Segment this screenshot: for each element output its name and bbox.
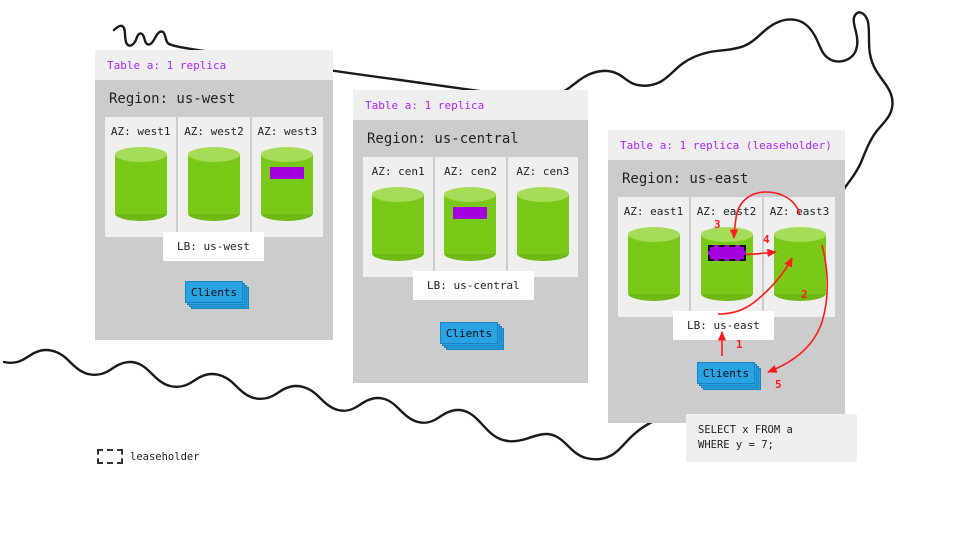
az-label-west2: AZ: west2 bbox=[184, 125, 244, 138]
cylinder-top bbox=[188, 147, 240, 162]
az-label-cen1: AZ: cen1 bbox=[372, 165, 425, 178]
clients-stack-us-east[interactable]: Clients bbox=[697, 362, 757, 386]
cylinder-body bbox=[372, 194, 424, 254]
cylinder-top bbox=[372, 187, 424, 202]
step-number-4: 4 bbox=[763, 233, 770, 246]
cylinder-top bbox=[628, 227, 680, 242]
az-row-us-west: AZ: west1 AZ: west2 AZ: west3 bbox=[105, 117, 323, 237]
node-cylinder-east1[interactable] bbox=[628, 227, 680, 301]
step-number-2: 2 bbox=[801, 288, 808, 301]
cylinder-body bbox=[115, 154, 167, 214]
cylinder-top bbox=[517, 187, 569, 202]
node-cylinder-west3[interactable] bbox=[261, 147, 313, 221]
az-row-us-central: AZ: cen1 AZ: cen2 AZ: cen3 bbox=[363, 157, 578, 277]
az-cell-west3[interactable]: AZ: west3 bbox=[252, 117, 323, 237]
leaseholder-replica-marker-east2 bbox=[708, 245, 746, 261]
az-cell-east2[interactable]: AZ: east2 bbox=[691, 197, 762, 317]
panel-title-us-east: Table a: 1 replica (leaseholder) bbox=[608, 130, 845, 160]
node-cylinder-cen2[interactable] bbox=[444, 187, 496, 261]
leaseholder-swatch-icon bbox=[97, 449, 123, 464]
replica-marker-cen2 bbox=[453, 207, 487, 219]
panel-title-us-central: Table a: 1 replica bbox=[353, 90, 588, 120]
cylinder-body bbox=[774, 234, 826, 294]
az-label-cen3: AZ: cen3 bbox=[516, 165, 569, 178]
cylinder-body bbox=[444, 194, 496, 254]
panel-title-us-west: Table a: 1 replica bbox=[95, 50, 333, 80]
clients-label-us-central[interactable]: Clients bbox=[440, 322, 498, 344]
lb-box-us-central[interactable]: LB: us-central bbox=[413, 271, 534, 300]
cylinder-top bbox=[774, 227, 826, 242]
node-cylinder-east3[interactable] bbox=[774, 227, 826, 301]
az-label-east3: AZ: east3 bbox=[770, 205, 830, 218]
cylinder-body bbox=[701, 234, 753, 294]
node-cylinder-cen1[interactable] bbox=[372, 187, 424, 261]
az-cell-east1[interactable]: AZ: east1 bbox=[618, 197, 689, 317]
replica-marker-west3 bbox=[270, 167, 304, 179]
cylinder-body bbox=[188, 154, 240, 214]
region-label-us-east: Region: us-east bbox=[618, 160, 835, 197]
lb-box-us-west[interactable]: LB: us-west bbox=[163, 232, 264, 261]
region-label-us-west: Region: us-west bbox=[105, 80, 323, 117]
cylinder-body bbox=[517, 194, 569, 254]
step-number-3: 3 bbox=[714, 218, 721, 231]
cylinder-body bbox=[261, 154, 313, 214]
az-cell-west2[interactable]: AZ: west2 bbox=[178, 117, 249, 237]
lb-box-us-east[interactable]: LB: us-east bbox=[673, 311, 774, 340]
step-number-1: 1 bbox=[736, 338, 743, 351]
az-label-east1: AZ: east1 bbox=[624, 205, 684, 218]
node-cylinder-cen3[interactable] bbox=[517, 187, 569, 261]
legend-leaseholder: leaseholder bbox=[97, 449, 200, 464]
az-cell-east3[interactable]: AZ: east3 bbox=[764, 197, 835, 317]
cylinder-top bbox=[701, 227, 753, 242]
cylinder-body bbox=[628, 234, 680, 294]
node-cylinder-east2[interactable] bbox=[701, 227, 753, 301]
clients-label-us-west[interactable]: Clients bbox=[185, 281, 243, 303]
az-cell-cen1[interactable]: AZ: cen1 bbox=[363, 157, 433, 277]
region-label-us-central: Region: us-central bbox=[363, 120, 578, 157]
cylinder-top bbox=[115, 147, 167, 162]
az-label-west3: AZ: west3 bbox=[258, 125, 318, 138]
sql-query-box: SELECT x FROM a WHERE y = 7; bbox=[686, 414, 857, 462]
node-cylinder-west1[interactable] bbox=[115, 147, 167, 221]
az-cell-cen3[interactable]: AZ: cen3 bbox=[508, 157, 578, 277]
clients-label-us-east[interactable]: Clients bbox=[697, 362, 755, 384]
node-cylinder-west2[interactable] bbox=[188, 147, 240, 221]
cylinder-top bbox=[261, 147, 313, 162]
clients-stack-us-central[interactable]: Clients bbox=[440, 322, 500, 346]
az-label-east2: AZ: east2 bbox=[697, 205, 757, 218]
az-cell-cen2[interactable]: AZ: cen2 bbox=[435, 157, 505, 277]
az-cell-west1[interactable]: AZ: west1 bbox=[105, 117, 176, 237]
step-number-5: 5 bbox=[775, 378, 782, 391]
clients-stack-us-west[interactable]: Clients bbox=[185, 281, 245, 305]
az-label-cen2: AZ: cen2 bbox=[444, 165, 497, 178]
az-label-west1: AZ: west1 bbox=[111, 125, 171, 138]
legend-label: leaseholder bbox=[130, 451, 200, 463]
